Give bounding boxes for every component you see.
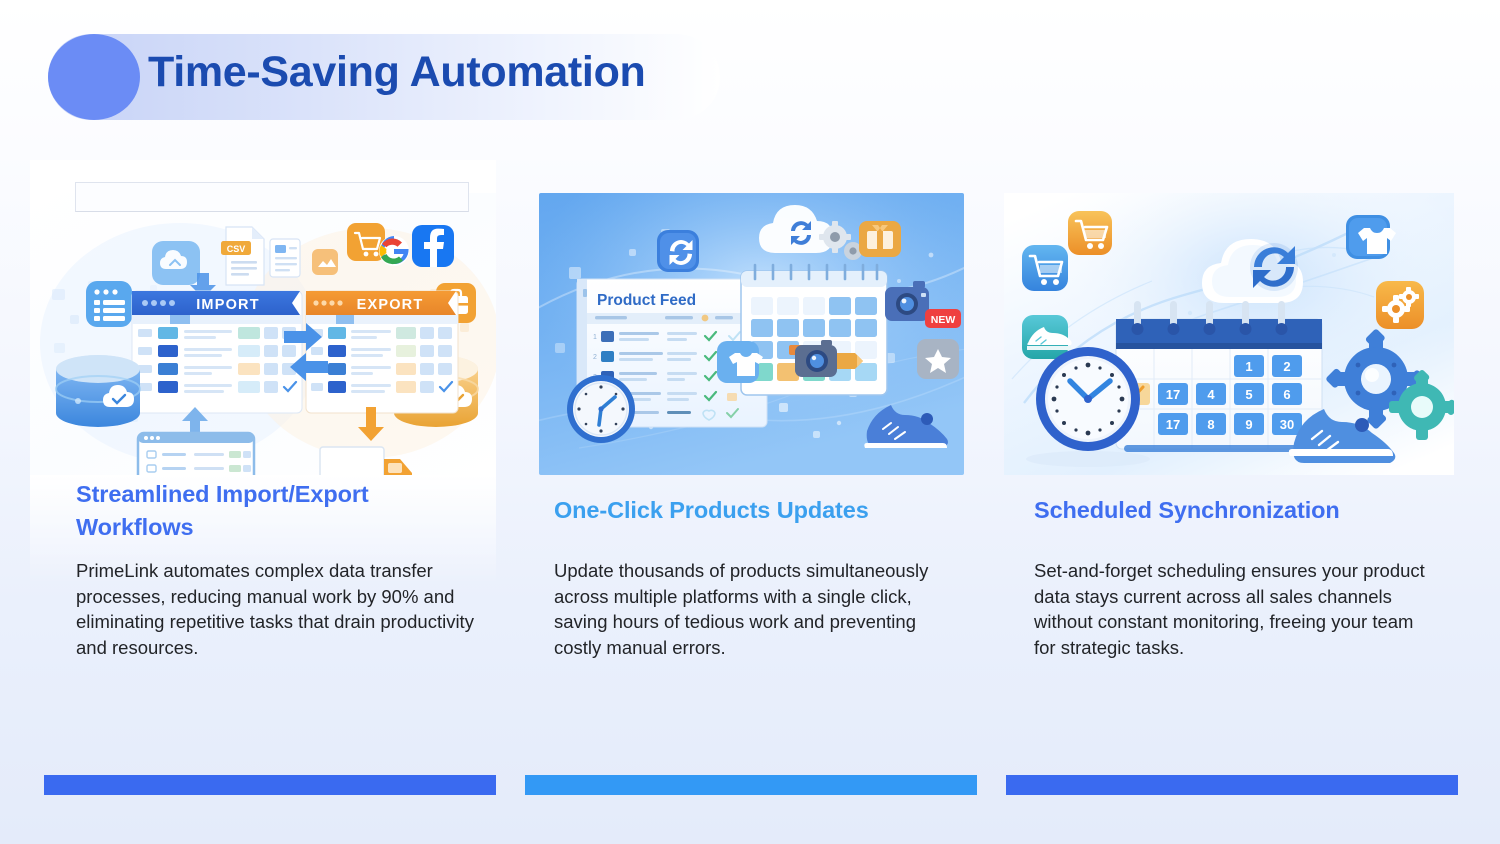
card-accent-bar bbox=[1006, 775, 1458, 795]
export-panel: EXPORT bbox=[306, 291, 458, 413]
shopping-cart-icon bbox=[347, 223, 385, 261]
tshirt-icon bbox=[717, 341, 763, 383]
svg-text:2: 2 bbox=[1283, 359, 1290, 374]
shopping-cart-orange-icon bbox=[1068, 211, 1112, 255]
image-icon bbox=[312, 249, 338, 275]
shopping-cart-blue-icon bbox=[1022, 245, 1068, 291]
svg-text:NEW: NEW bbox=[931, 314, 956, 326]
database-blue-icon bbox=[56, 355, 140, 427]
card-accent-bar bbox=[44, 775, 496, 795]
svg-text:1: 1 bbox=[1245, 359, 1252, 374]
svg-text:EXPORT: EXPORT bbox=[357, 297, 424, 313]
card-heading: Streamlined Import/Export Workflows bbox=[76, 478, 476, 544]
card-body-text: PrimeLink automates complex data transfe… bbox=[76, 558, 476, 660]
header-circle-decoration bbox=[48, 34, 140, 120]
clock-icon bbox=[1036, 347, 1140, 451]
clock-icon bbox=[567, 375, 635, 443]
feature-cards-row: CSV bbox=[0, 160, 1500, 844]
sync-icon bbox=[657, 230, 699, 272]
card-accent-bar bbox=[525, 775, 977, 795]
svg-text:9: 9 bbox=[1245, 417, 1252, 432]
svg-text:Product Feed: Product Feed bbox=[597, 292, 696, 309]
new-badge: NEW bbox=[925, 309, 961, 328]
facebook-icon bbox=[412, 225, 454, 267]
svg-text:17: 17 bbox=[1166, 417, 1180, 432]
gears-orange-icon bbox=[1376, 281, 1424, 329]
card-heading: One-Click Products Updates bbox=[554, 494, 954, 527]
svg-text:30: 30 bbox=[1280, 417, 1294, 432]
csv-file-icon: CSV bbox=[221, 227, 264, 285]
feature-card-streamlined-import-export[interactable]: CSV bbox=[30, 160, 496, 844]
card-body-text: Update thousands of products simultaneou… bbox=[554, 558, 944, 660]
import-panel: IMPORT bbox=[132, 291, 302, 413]
star-badge-icon bbox=[917, 339, 959, 379]
svg-text:IMPORT: IMPORT bbox=[196, 297, 260, 313]
document-icon bbox=[270, 239, 300, 277]
svg-text:4: 4 bbox=[1207, 387, 1215, 402]
page-title: Time-Saving Automation bbox=[148, 48, 646, 97]
tshirt-icon bbox=[1346, 215, 1396, 259]
calendar-icon: 1 2 17 4 5 6 17 bbox=[1116, 301, 1322, 449]
svg-text:5: 5 bbox=[1245, 387, 1252, 402]
scheduled-sync-illustration: 1 2 17 4 5 6 17 bbox=[1004, 193, 1454, 475]
product-feed-illustration: Product Feed 1 2 bbox=[539, 193, 964, 475]
svg-text:CSV: CSV bbox=[227, 244, 246, 254]
sneaker-icon bbox=[1022, 315, 1072, 359]
google-icon bbox=[379, 236, 409, 266]
box-icon bbox=[859, 221, 901, 257]
import-export-illustration: CSV bbox=[30, 193, 496, 475]
svg-text:1: 1 bbox=[593, 334, 597, 341]
svg-text:17: 17 bbox=[1166, 387, 1180, 402]
card-body-text: Set-and-forget scheduling ensures your p… bbox=[1034, 558, 1434, 660]
card-heading: Scheduled Synchronization bbox=[1034, 494, 1444, 527]
svg-text:8: 8 bbox=[1207, 417, 1214, 432]
svg-text:2: 2 bbox=[593, 354, 597, 361]
cloud-upload-icon bbox=[152, 241, 200, 285]
camera-icon-2 bbox=[795, 340, 837, 377]
page-header: Time-Saving Automation bbox=[0, 0, 1500, 160]
card-top-frame-decoration bbox=[75, 182, 469, 212]
svg-text:6: 6 bbox=[1283, 387, 1290, 402]
feature-card-one-click-products-updates[interactable]: Product Feed 1 2 bbox=[518, 160, 964, 844]
list-icon bbox=[86, 281, 132, 327]
laptop-icon bbox=[118, 433, 274, 475]
feature-card-scheduled-synchronization[interactable]: 1 2 17 4 5 6 17 bbox=[986, 160, 1457, 844]
